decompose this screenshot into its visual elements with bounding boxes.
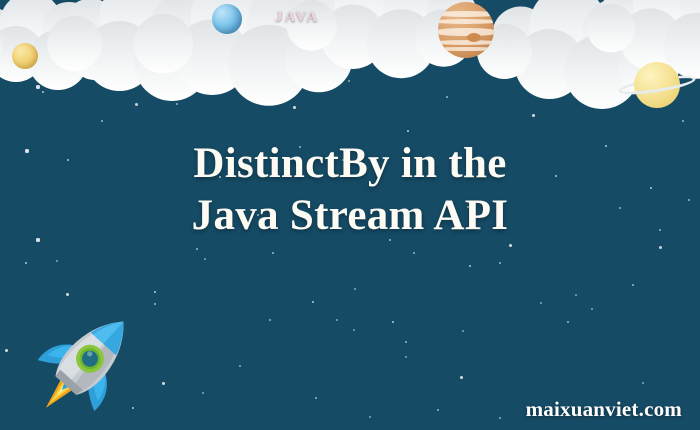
planet-gold-icon	[12, 43, 38, 69]
planet-saturn-icon	[634, 62, 680, 108]
poster-canvas: JAVA DistinctBy in the Java Stream API m…	[0, 0, 700, 430]
rocket-icon	[24, 296, 152, 426]
page-title: DistinctBy in the Java Stream API	[0, 138, 700, 242]
page-title-line-1: DistinctBy in the	[0, 138, 700, 190]
java-badge-label: JAVA	[275, 9, 319, 26]
site-watermark: maixuanviet.com	[526, 397, 682, 422]
planet-blue-icon	[212, 4, 242, 34]
page-title-line-2: Java Stream API	[0, 190, 700, 242]
planet-jupiter-icon	[438, 2, 494, 58]
